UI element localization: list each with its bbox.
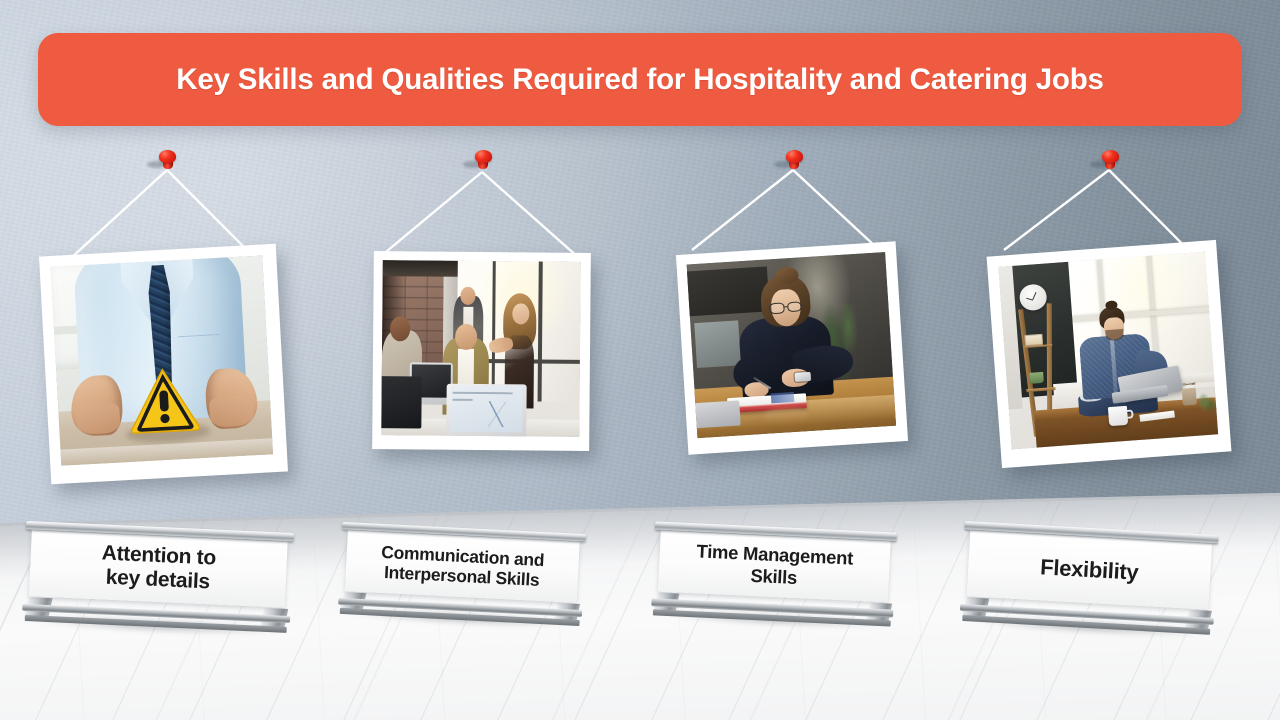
hanging-picture-4 [990, 150, 1230, 495]
red-pushpin-icon [474, 150, 493, 172]
picture-frame-3 [676, 241, 908, 454]
slide-canvas: Key Skills and Qualities Required for Ho… [0, 0, 1280, 720]
page-title: Key Skills and Qualities Required for Ho… [176, 63, 1104, 97]
nameplate-label-3: Time Management Skills [689, 540, 859, 591]
photo-3 [687, 252, 897, 438]
nameplate-flexibility: Flexibility [960, 521, 1219, 631]
picture-frame-4 [987, 240, 1232, 468]
hanging-picture-3 [680, 150, 908, 495]
nameplate-label-4: Flexibility [1034, 553, 1145, 585]
nameplate-card-1: Attention to key details [29, 529, 287, 608]
nameplate-label-3-line1: Time Management [696, 541, 853, 569]
picture-frame-1 [39, 244, 288, 484]
nameplate-attention-to-key-details: Attention to key details [22, 521, 294, 629]
nameplate-label-1-line2: key details [105, 566, 210, 594]
photo-1 [51, 255, 273, 465]
nameplate-label-4-line1: Flexibility [1040, 554, 1139, 584]
nameplate-label-2: Communication and Interpersonal Skills [374, 541, 551, 590]
photo-2 [381, 260, 581, 437]
red-pushpin-icon [785, 150, 804, 172]
hanging-picture-2 [368, 150, 598, 495]
nameplate-label-1: Attention to key details [94, 541, 222, 595]
warning-triangle-icon [126, 363, 202, 438]
nameplate-label-3-line2: Skills [750, 565, 797, 588]
red-pushpin-icon [1101, 150, 1120, 172]
title-banner: Key Skills and Qualities Required for Ho… [38, 33, 1242, 126]
nameplate-time-management-skills: Time Management Skills [651, 521, 897, 622]
nameplate-communication-and-interpersonal-skills: Communication and Interpersonal Skills [338, 522, 586, 622]
photo-4 [998, 252, 1218, 450]
hanging-picture-1 [45, 150, 290, 495]
picture-frame-2 [372, 251, 591, 451]
red-pushpin-icon [158, 150, 177, 172]
nameplate-label-1-line1: Attention to [101, 541, 216, 569]
nameplate-card-3: Time Management Skills [658, 529, 891, 603]
